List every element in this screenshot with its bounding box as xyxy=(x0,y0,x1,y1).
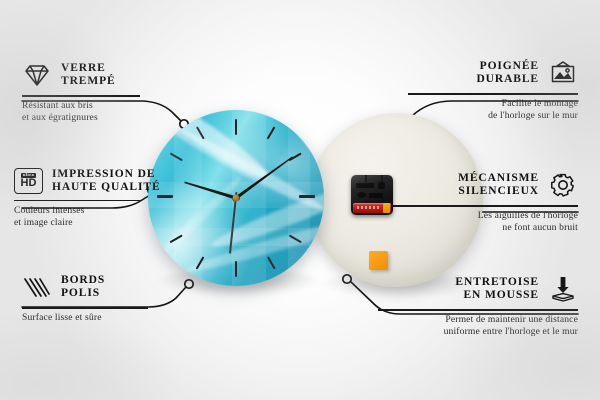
callout-silent-mechanism: MÉCANISME SILENCIEUX Les aiguilles de l'… xyxy=(392,170,578,234)
callout-desc: Couleurs intenses et image claire xyxy=(14,205,174,229)
glass-reflection xyxy=(148,110,324,286)
callout-desc: Surface lisse et sûre xyxy=(22,312,182,324)
callout-title: VERRE TREMPÉ xyxy=(61,62,116,89)
aa-battery xyxy=(353,203,391,213)
gear-icon xyxy=(548,170,578,200)
callout-rule xyxy=(22,95,140,97)
callout-title: BORDS POLIS xyxy=(61,274,105,301)
callout-print-quality: ultra HD IMPRESSION DE HAUTE QUALITÉ Cou… xyxy=(14,168,174,229)
down-arrow-layers-icon xyxy=(548,274,578,304)
callout-tempered-glass: VERRE TREMPÉ Résistant aux bris et aux é… xyxy=(22,60,172,124)
callout-desc: Permet de maintenir une distance uniform… xyxy=(378,314,578,338)
diamond-icon xyxy=(22,60,52,90)
callout-title: MÉCANISME SILENCIEUX xyxy=(458,172,539,199)
callout-rule xyxy=(14,200,140,202)
callout-polished-edges: BORDS POLIS Surface lisse et sûre xyxy=(22,272,182,324)
callout-title: IMPRESSION DE HAUTE QUALITÉ xyxy=(52,168,161,195)
callout-foam-spacer: ENTRETOISE EN MOUSSE Permet de maintenir… xyxy=(378,274,578,338)
callout-durable-hanger: POIGNÉE DURABLE Facilite le montage de l… xyxy=(408,58,578,122)
callout-desc: Facilite le montage de l'horloge sur le … xyxy=(408,98,578,122)
hanger-loop-icon xyxy=(365,175,383,182)
ultra-hd-icon: ultra HD xyxy=(14,168,43,194)
callout-title: ENTRETOISE EN MOUSSE xyxy=(455,276,539,303)
infographic-canvas: VERRE TREMPÉ Résistant aux bris et aux é… xyxy=(0,0,600,400)
callout-rule xyxy=(378,309,578,311)
callout-rule xyxy=(22,307,148,309)
callout-rule xyxy=(408,93,578,95)
foam-spacer-pad xyxy=(369,251,388,270)
callout-desc: Les aiguilles de l'horloge ne font aucun… xyxy=(392,210,578,234)
clock-front-face xyxy=(148,110,324,286)
framed-picture-icon xyxy=(548,58,578,88)
callout-rule xyxy=(392,205,578,207)
callout-desc: Résistant aux bris et aux égratignures xyxy=(22,100,172,124)
diagonal-stripes-icon xyxy=(22,272,52,302)
callout-title: POIGNÉE DURABLE xyxy=(476,60,539,87)
